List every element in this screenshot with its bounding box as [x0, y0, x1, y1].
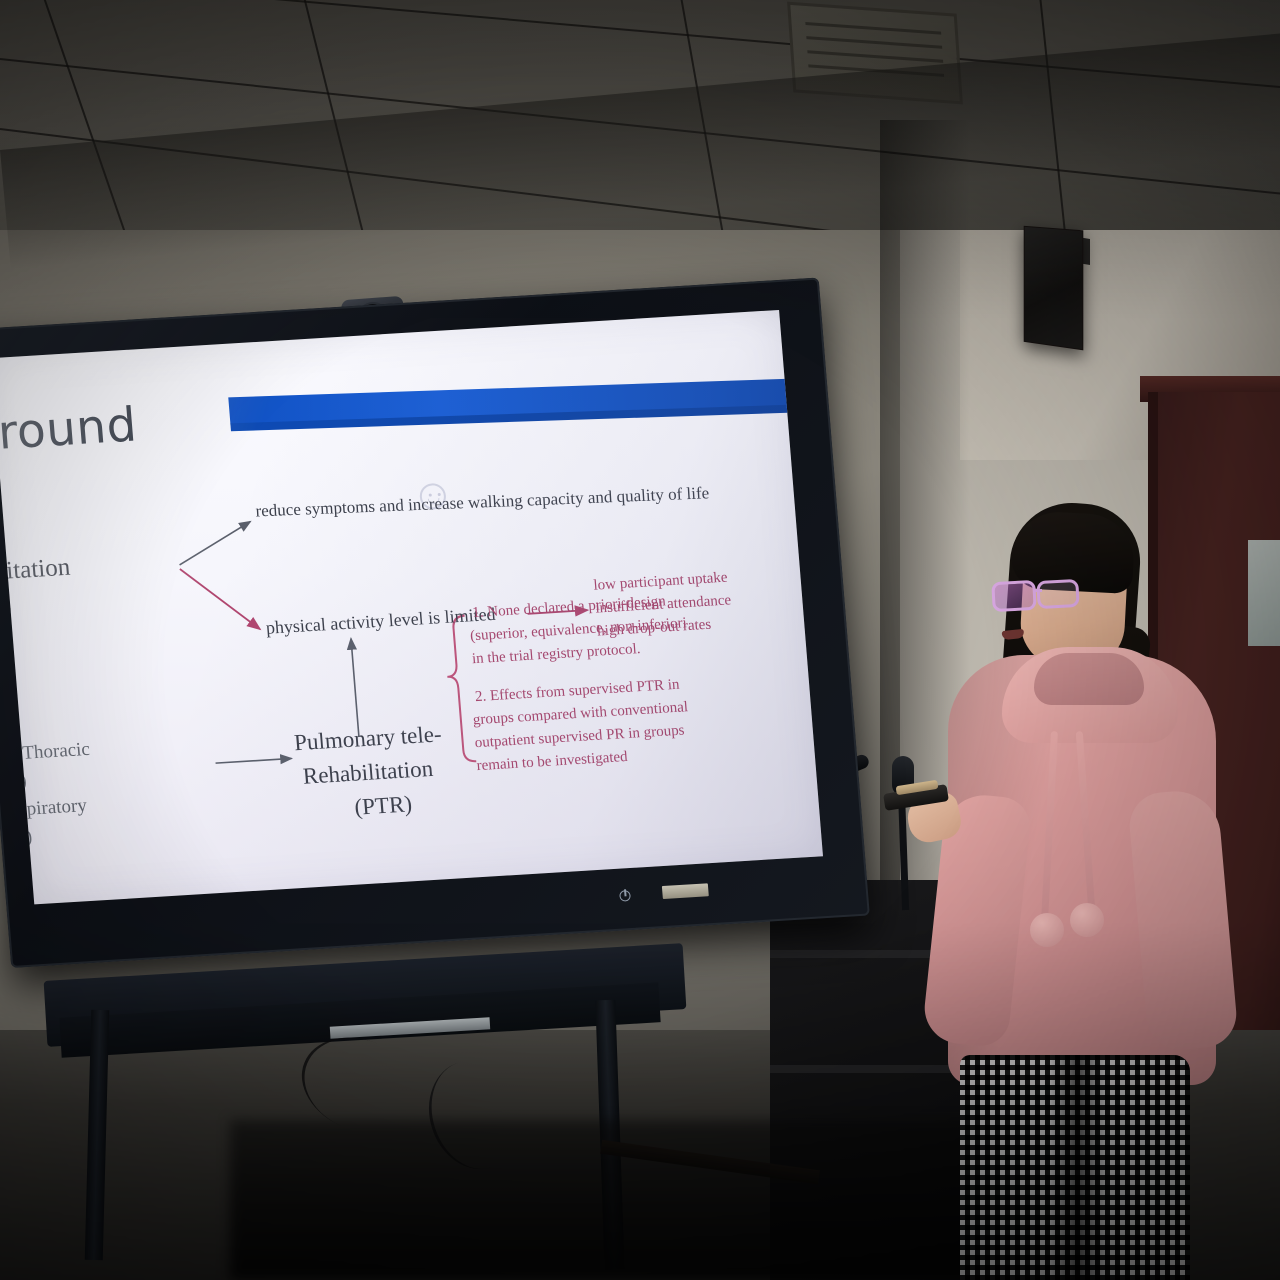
node-ptr-line3: (PTR) — [354, 791, 413, 820]
hood-inner — [1034, 653, 1144, 705]
glasses-bridge — [1034, 589, 1042, 592]
pompom-right — [1070, 903, 1104, 937]
display-screen[interactable]: ackground — [0, 310, 823, 904]
glasses-right-lens — [1036, 579, 1079, 609]
presentation-slide: ackground — [0, 310, 823, 904]
pompom-left — [1030, 913, 1064, 947]
presentation-room-photo: ackground — [0, 0, 1280, 1280]
presenter — [930, 495, 1230, 1280]
floor-shadow — [230, 1120, 1050, 1280]
wall-speaker — [1024, 226, 1084, 351]
pants-shadow — [1050, 1055, 1106, 1280]
glasses-left-lens — [991, 580, 1037, 612]
flat-panel-display[interactable]: ackground — [0, 276, 891, 988]
door-light-panel — [1248, 540, 1280, 646]
